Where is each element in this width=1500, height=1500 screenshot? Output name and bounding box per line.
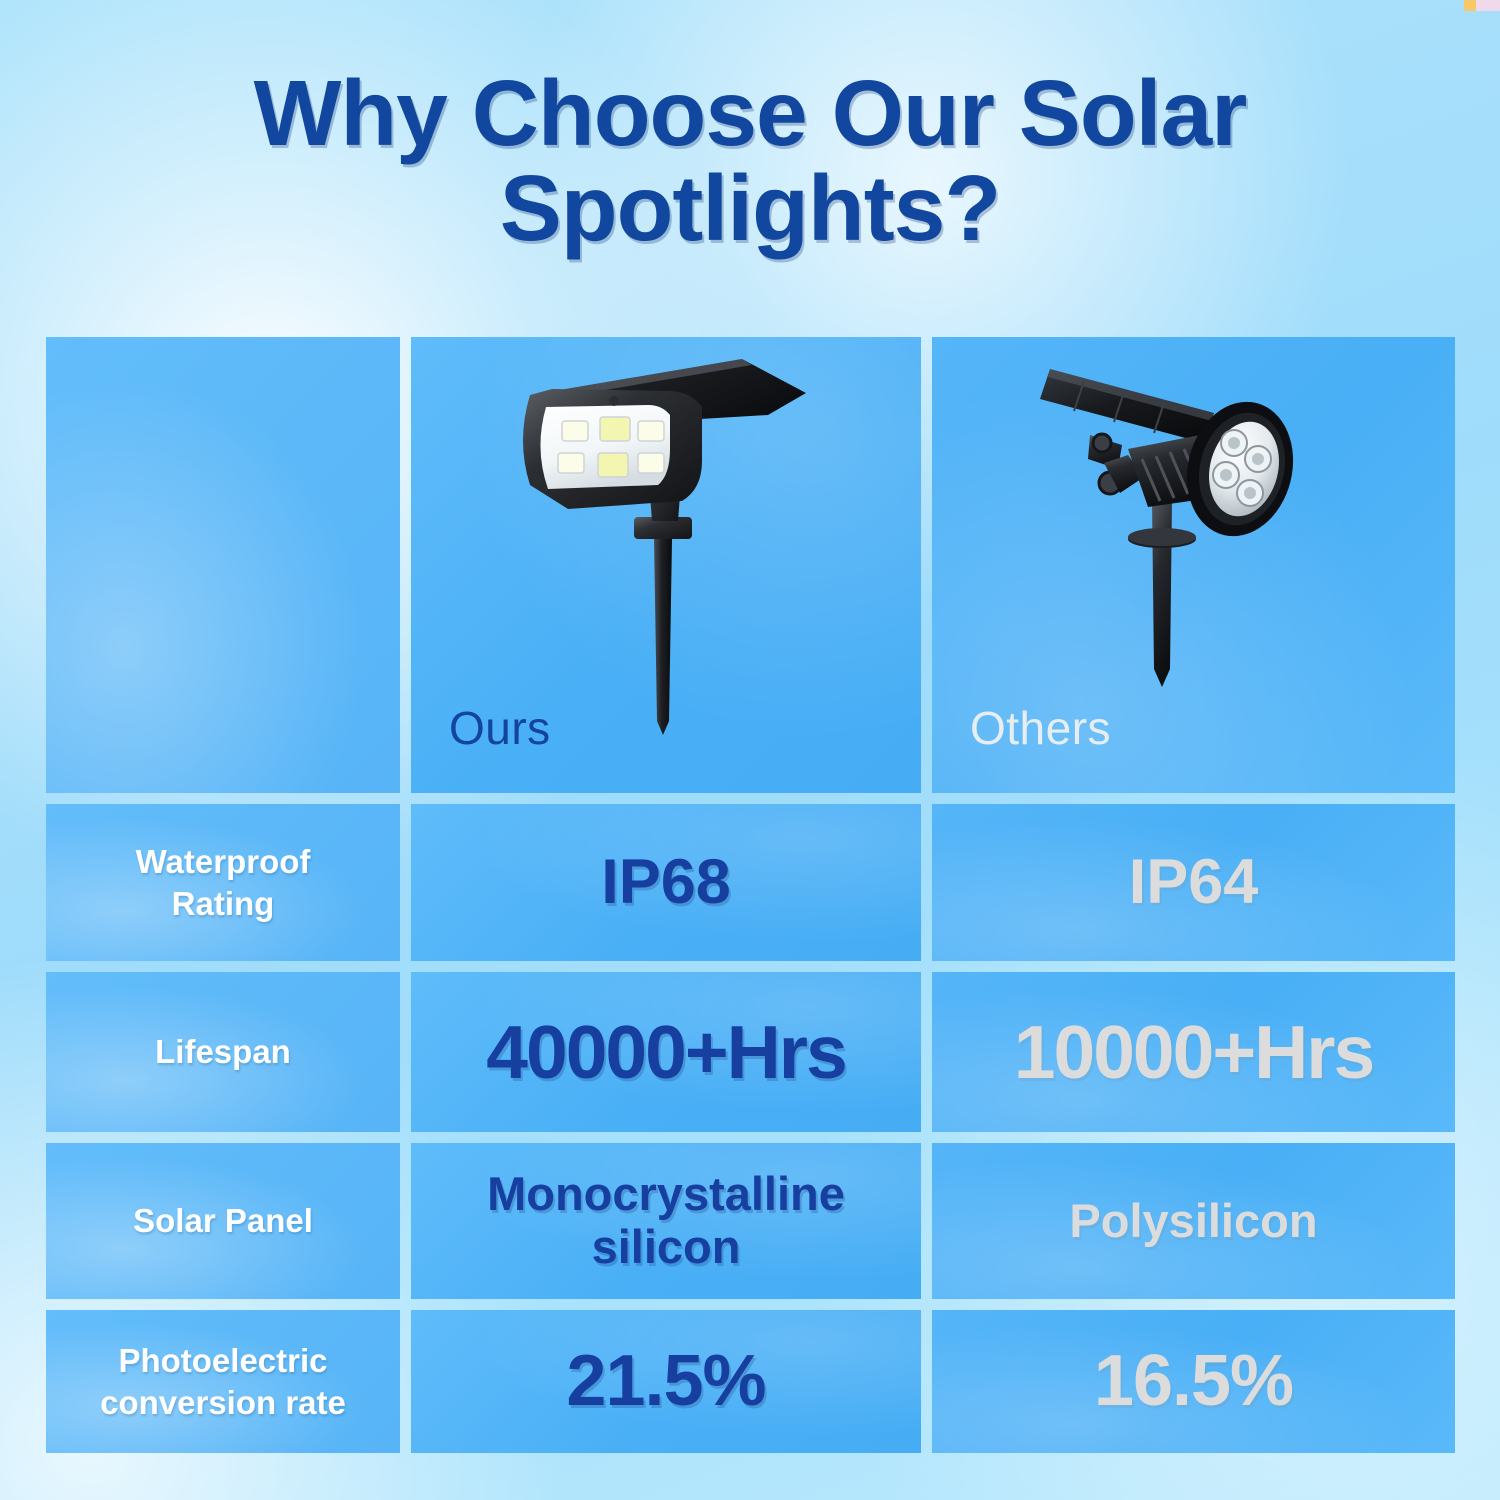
value-ours-lifespan: 40000+Hrs xyxy=(411,972,921,1132)
comparison-table: Ours xyxy=(46,337,1455,1443)
value-text: Polysilicon xyxy=(1053,1195,1333,1248)
value-others-photoelectric-conversion-rate: 16.5% xyxy=(932,1310,1455,1453)
ours-column-label: Ours xyxy=(449,701,551,755)
value-text: 16.5% xyxy=(1078,1341,1309,1422)
feature-label-waterproof-rating: Waterproof Rating xyxy=(118,841,329,924)
table-row: Waterproof Rating xyxy=(46,804,400,961)
table-row: Solar Panel xyxy=(46,1143,400,1299)
feature-label-photoelectric-conversion-rate: Photoelectric conversion rate xyxy=(82,1340,364,1423)
table-header-others-cell: Others xyxy=(932,337,1455,793)
page-title-line-1: Why Choose Our Solar xyxy=(0,66,1500,161)
feature-label-line-1: Waterproof xyxy=(136,843,311,880)
solar-spotlight-round-head-product-icon xyxy=(1032,351,1362,751)
value-ours-waterproof-rating: IP68 xyxy=(411,804,921,961)
table-header-ours-cell: Ours xyxy=(411,337,921,793)
value-others-solar-panel: Polysilicon xyxy=(932,1143,1455,1299)
value-text: 21.5% xyxy=(550,1341,781,1422)
feature-label-line-1: Lifespan xyxy=(155,1033,291,1070)
value-others-lifespan: 10000+Hrs xyxy=(932,972,1455,1132)
table-row: Photoelectric conversion rate xyxy=(46,1310,400,1453)
feature-label-line-1: Solar Panel xyxy=(133,1202,313,1239)
value-text-line-2: silicon xyxy=(592,1220,741,1273)
value-text: IP68 xyxy=(585,847,747,918)
value-text: IP64 xyxy=(1113,847,1275,918)
feature-label-line-2: Rating xyxy=(172,885,275,922)
value-text: 10000+Hrs xyxy=(998,1010,1389,1094)
table-row: Lifespan xyxy=(46,972,400,1132)
feature-label-lifespan: Lifespan xyxy=(137,1031,309,1072)
table-header-empty-cell xyxy=(46,337,400,793)
feature-label-line-1: Photoelectric xyxy=(118,1342,327,1379)
feature-label-solar-panel: Solar Panel xyxy=(115,1200,331,1241)
solar-spotlight-wide-panel-product-icon xyxy=(506,349,836,749)
value-ours-solar-panel: Monocrystalline silicon xyxy=(411,1143,921,1299)
infographic-page: Why Choose Our Solar Spotlights? xyxy=(0,0,1500,1500)
page-title: Why Choose Our Solar Spotlights? xyxy=(0,66,1500,256)
value-ours-photoelectric-conversion-rate: 21.5% xyxy=(411,1310,921,1453)
value-text: 40000+Hrs xyxy=(470,1010,861,1094)
corner-color-artifact xyxy=(1464,0,1500,11)
value-others-waterproof-rating: IP64 xyxy=(932,804,1455,961)
others-column-label: Others xyxy=(970,701,1111,755)
value-text-line-1: Monocrystalline xyxy=(487,1167,845,1220)
feature-label-line-2: conversion rate xyxy=(100,1384,346,1421)
page-title-line-2: Spotlights? xyxy=(0,161,1500,256)
value-text: Monocrystalline silicon xyxy=(471,1168,861,1273)
